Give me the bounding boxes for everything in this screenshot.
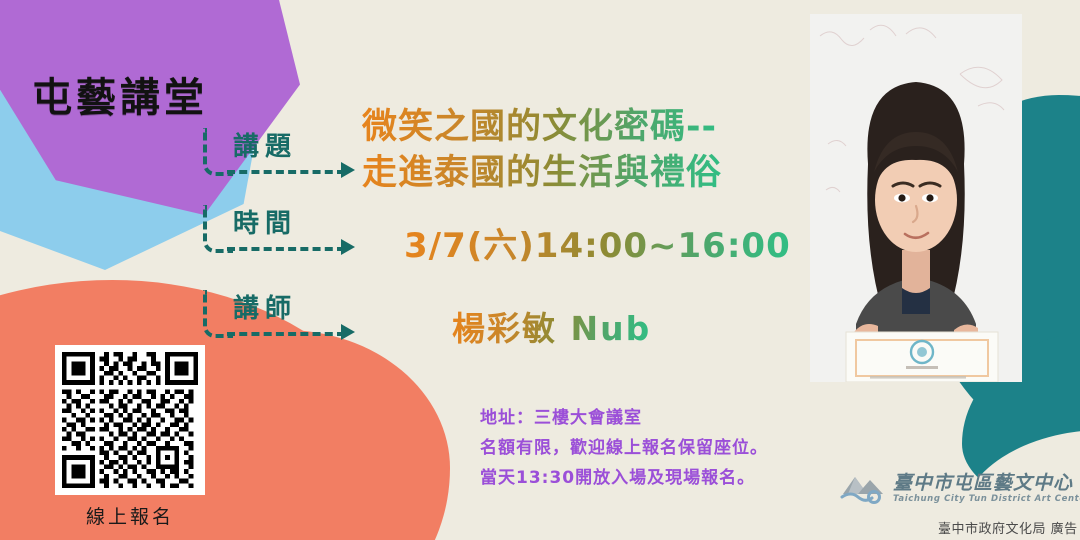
label-speaker: 講師 [233, 288, 297, 325]
note-admission: 當天13:30開放入場及現場報名。 [480, 464, 768, 494]
label-topic: 講題 [233, 126, 297, 163]
arrow-head-icon [341, 239, 355, 255]
qr-registration-block[interactable]: 線上報名 [55, 345, 205, 529]
talk-datetime: 3/7(六)14:00~16:00 [404, 218, 791, 267]
label-row-topic: 講題 [195, 126, 360, 196]
dashed-bracket-icon [203, 128, 233, 176]
event-notes: 地址：三樓大會議室 名額有限，歡迎線上報名保留座位。 當天13:30開放入場及現… [480, 404, 768, 493]
talk-title: 微笑之國的文化密碼-- 走進泰國的生活與禮俗 [362, 104, 722, 196]
logo-name-en: Taichung City Tun District Art Center [893, 495, 1080, 504]
label-time: 時間 [233, 203, 297, 240]
talk-title-line-1: 微笑之國的文化密碼-- [362, 104, 722, 150]
talk-title-line-2: 走進泰國的生活與禮俗 [362, 150, 722, 196]
dashed-arrow-line-icon [227, 247, 345, 251]
arrow-head-icon [341, 162, 355, 178]
label-row-speaker: 講師 [195, 288, 360, 358]
qr-code-image[interactable] [55, 345, 205, 495]
poster-canvas: 屯藝講堂 講題 時間 講師 微笑之國的文化密碼-- 走進泰國的生活與禮俗 3/ [0, 0, 1080, 540]
mountain-wave-icon [840, 472, 886, 506]
organization-logo: 臺中市屯區藝文中心 Taichung City Tun District Art… [840, 472, 1080, 506]
talk-speaker: 楊彩敏 Nub [452, 302, 651, 350]
label-row-time: 時間 [195, 203, 360, 273]
dashed-bracket-icon [203, 290, 233, 338]
logo-name-cn: 臺中市屯區藝文中心 [893, 474, 1080, 493]
talk-speaker-text: 楊彩敏 Nub [452, 302, 651, 350]
note-address: 地址：三樓大會議室 [480, 404, 768, 434]
talk-datetime-text: 3/7(六)14:00~16:00 [404, 218, 791, 267]
dashed-bracket-icon [203, 205, 233, 253]
dashed-arrow-line-icon [227, 170, 345, 174]
note-capacity: 名額有限，歡迎線上報名保留座位。 [480, 434, 768, 464]
qr-caption: 線上報名 [55, 502, 205, 529]
advertisement-line: 臺中市政府文化局 廣告 [938, 518, 1078, 537]
speaker-portrait-photo [810, 14, 1022, 382]
brand-title: 屯藝講堂 [32, 78, 208, 118]
arrow-head-icon [341, 324, 355, 340]
dashed-arrow-line-icon [227, 332, 345, 336]
logo-text-block: 臺中市屯區藝文中心 Taichung City Tun District Art… [893, 474, 1080, 504]
